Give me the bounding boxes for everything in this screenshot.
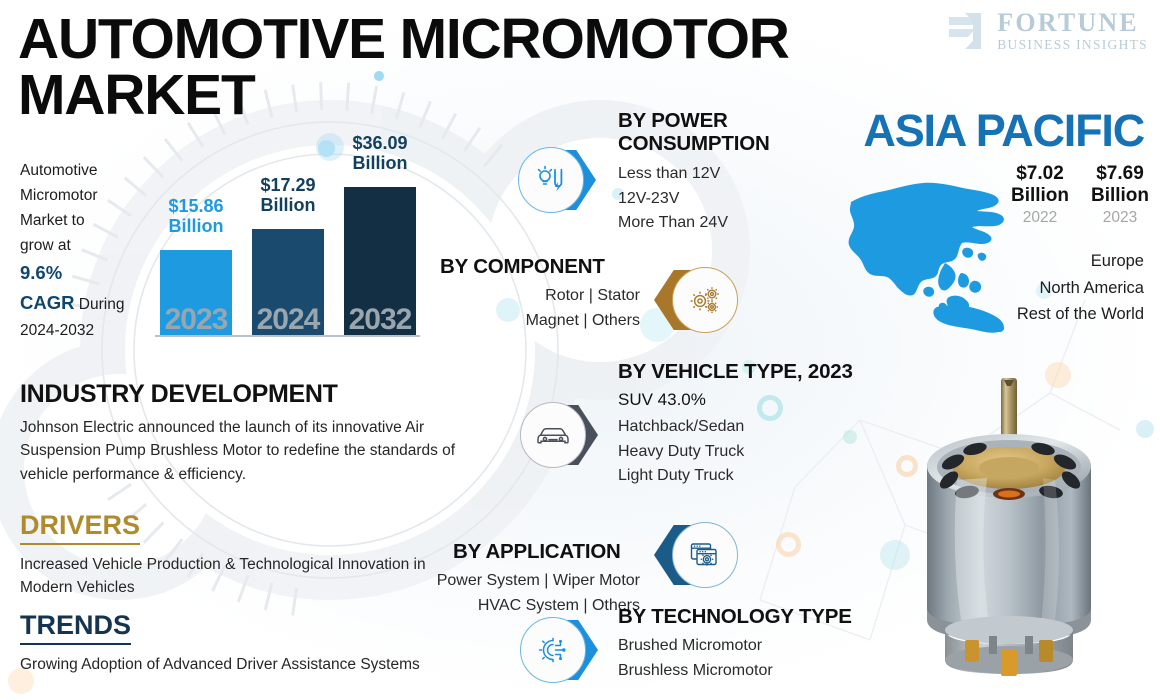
bar-unit-2023: Billion [169, 216, 224, 236]
bar-group-2032: $36.09 Billion 2032 [344, 187, 416, 335]
region-list-item: Rest of the World [1017, 301, 1144, 328]
industry-development-body: Johnson Electric announced the launch of… [20, 416, 490, 486]
component-badge [658, 263, 732, 337]
bar-unit-2032: Billion [353, 153, 408, 173]
fortune-logo-icon [947, 11, 989, 51]
page-title: AUTOMOTIVE MICROMOTOR MARKET [18, 12, 918, 124]
application-row: HVAC System | Others [395, 594, 640, 619]
industry-development-section: INDUSTRY DEVELOPMENT Johnson Electric an… [20, 380, 490, 486]
trends-body: Growing Adoption of Advanced Driver Assi… [20, 653, 490, 676]
technology-type-section: BY TECHNOLOGY TYPE Brushed Micromotor Br… [618, 605, 888, 683]
application-row: Power System | Wiper Motor [395, 569, 640, 594]
power-consumption-item: 12V-23V [618, 187, 828, 212]
cagr-value: 9.6% [20, 262, 62, 283]
technology-type-item: Brushed Micromotor [618, 634, 888, 659]
region-stat-amount: $7.69 [1096, 163, 1144, 184]
bar-label-2024: 2024 [252, 303, 324, 337]
vehicle-type-lead: SUV 43.0% [618, 387, 888, 413]
window-gear-icon [672, 522, 738, 588]
vehicle-type-heading: BY VEHICLE TYPE, 2023 [618, 360, 888, 384]
component-heading: BY COMPONENT [440, 255, 640, 279]
other-regions-list: Europe North America Rest of the World [1017, 248, 1144, 328]
power-consumption-heading: BY POWER CONSUMPTION [618, 110, 828, 156]
bar-group-2024: $17.29 Billion 2024 [252, 229, 324, 335]
region-stat-2023: $7.69 Billion 2023 [1080, 163, 1160, 227]
technology-type-heading: BY TECHNOLOGY TYPE [618, 605, 888, 629]
vehicle-type-section: BY VEHICLE TYPE, 2023 SUV 43.0% Hatchbac… [618, 360, 888, 489]
circuit-gear-icon [520, 617, 586, 683]
accent-dot [776, 532, 801, 557]
intro-line-1: Automotive [20, 158, 155, 183]
region-stat-unit: Billion [1011, 185, 1069, 206]
industry-development-heading: INDUSTRY DEVELOPMENT [20, 380, 490, 409]
power-consumption-item: Less than 12V [618, 162, 828, 187]
bar-group-2023: $15.86 Billion 2023 [160, 250, 232, 335]
component-section: BY COMPONENT Rotor | Stator Magnet | Oth… [440, 255, 640, 333]
drivers-heading: DRIVERS [20, 510, 140, 545]
region-stat-year: 2023 [1080, 209, 1160, 227]
region-stat-year: 2022 [1000, 209, 1080, 227]
region-stat-amount: $7.02 [1016, 163, 1064, 184]
logo-primary-text: FORTUNE [997, 10, 1148, 36]
trends-heading: TRENDS [20, 610, 131, 645]
intro-line-3: Market to [20, 208, 155, 233]
technology-type-badge [520, 613, 594, 687]
power-consumption-item: More Than 24V [618, 211, 828, 236]
brand-logo: FORTUNE BUSINESS INSIGHTS [947, 10, 1148, 52]
infographic-canvas: AUTOMOTIVE MICROMOTOR MARKET FORTUNE BUS… [0, 0, 1160, 700]
vehicle-type-item: Hatchback/Sedan [618, 415, 888, 440]
region-title: ASIA PACIFIC [863, 105, 1144, 157]
bar-value-2032: $36.09 [352, 133, 407, 153]
bulb-plug-icon [518, 147, 584, 213]
drivers-section: DRIVERS Increased Vehicle Production & T… [20, 510, 440, 600]
cagr-period: 2024-2032 [20, 318, 155, 343]
bar-label-2023: 2023 [160, 303, 232, 337]
intro-line-4: grow at [20, 233, 155, 258]
application-badge [658, 518, 732, 592]
bar-value-2024: $17.29 [260, 175, 315, 195]
component-row: Magnet | Others [440, 309, 640, 334]
vehicle-type-item: Light Duty Truck [618, 464, 888, 489]
component-row: Rotor | Stator [440, 284, 640, 309]
region-stat-unit: Billion [1091, 185, 1149, 206]
gears-icon [672, 267, 738, 333]
market-bar-chart: $15.86 Billion 2023 $17.29 Billion 2024 … [150, 168, 425, 343]
application-section: BY APPLICATION Power System | Wiper Moto… [395, 540, 640, 618]
cagr-during: During [79, 296, 125, 313]
logo-secondary-text: BUSINESS INSIGHTS [997, 38, 1148, 52]
power-consumption-section: BY POWER CONSUMPTION Less than 12V 12V-2… [618, 110, 828, 236]
region-stat-2022: $7.02 Billion 2022 [1000, 163, 1080, 227]
cagr-label: CAGR [20, 292, 74, 313]
bar-value-2023: $15.86 [168, 196, 223, 216]
technology-type-item: Brushless Micromotor [618, 659, 888, 684]
application-heading: BY APPLICATION [395, 540, 640, 564]
market-intro-text: Automotive Micromotor Market to grow at … [20, 158, 155, 343]
vehicle-type-badge [520, 398, 594, 472]
region-list-item: North America [1017, 275, 1144, 302]
region-list-item: Europe [1017, 248, 1144, 275]
drivers-body: Increased Vehicle Production & Technolog… [20, 553, 440, 600]
intro-line-2: Micromotor [20, 183, 155, 208]
bar-unit-2024: Billion [261, 195, 316, 215]
power-consumption-badge [518, 143, 592, 217]
accent-dot [1136, 420, 1154, 438]
vehicle-type-item: Heavy Duty Truck [618, 440, 888, 465]
trends-section: TRENDS Growing Adoption of Advanced Driv… [20, 610, 490, 676]
bar-label-2032: 2032 [344, 303, 416, 337]
car-icon [520, 402, 586, 468]
dc-micromotor-photo [905, 368, 1120, 688]
